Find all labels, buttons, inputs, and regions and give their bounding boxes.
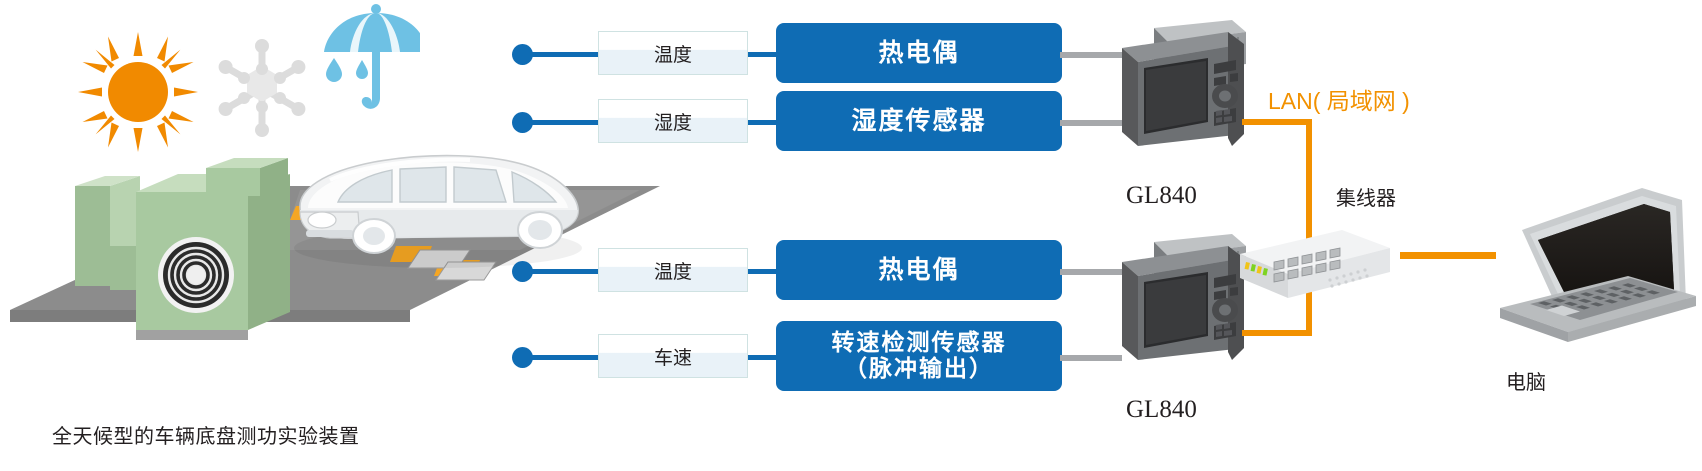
- sensor-box-4: 转速检测传感器 （脉冲输出）: [776, 321, 1062, 391]
- hub-label: 集线器: [1336, 182, 1396, 211]
- connector-line: [530, 52, 602, 57]
- lan-label: LAN( 局域网 ): [1268, 82, 1410, 116]
- sun-icon: [78, 32, 198, 152]
- quantity-label-1: 温度: [598, 31, 748, 75]
- connector-line: [530, 355, 602, 360]
- connector-line: [530, 269, 602, 274]
- diagram-canvas: 全天候型的车辆底盘测功实验装置 温度 热电偶 湿度 湿度传感器 温度 热电偶 车…: [0, 0, 1702, 471]
- quantity-label-4: 车速: [598, 334, 748, 378]
- data-logger-top: [1108, 18, 1278, 178]
- lan-wire-top-horizontal: [1242, 119, 1312, 125]
- data-logger-bottom-label: GL840: [1126, 396, 1197, 424]
- scene-caption: 全天候型的车辆底盘测功实验装置: [52, 420, 360, 449]
- network-hub: [1234, 218, 1394, 308]
- measurement-chain-2: 湿度 湿度传感器: [512, 99, 1072, 145]
- connector-line: [530, 120, 602, 125]
- lan-wire-bottom-horizontal: [1242, 330, 1312, 336]
- measurement-chain-3: 温度 热电偶: [512, 248, 1072, 294]
- quantity-label-2: 湿度: [598, 99, 748, 143]
- measurement-chain-4: 车速 转速检测传感器 （脉冲输出）: [512, 334, 1072, 380]
- computer-label: 电脑: [1506, 366, 1546, 395]
- sensor-box-4-line2: （脉冲输出）: [844, 356, 994, 382]
- umbrella-rain-icon: [318, 2, 420, 118]
- sensor-box-3: 热电偶: [776, 240, 1062, 300]
- laptop-computer: [1460, 186, 1700, 366]
- sensor-box-1: 热电偶: [776, 23, 1062, 83]
- measurement-chain-1: 温度 热电偶: [512, 31, 1072, 77]
- quantity-label-3: 温度: [598, 248, 748, 292]
- snowflake-icon: [210, 36, 314, 140]
- sensor-box-2: 湿度传感器: [776, 91, 1062, 151]
- sensor-box-4-line1: 转速检测传感器: [832, 330, 1007, 356]
- data-logger-top-label: GL840: [1126, 182, 1197, 210]
